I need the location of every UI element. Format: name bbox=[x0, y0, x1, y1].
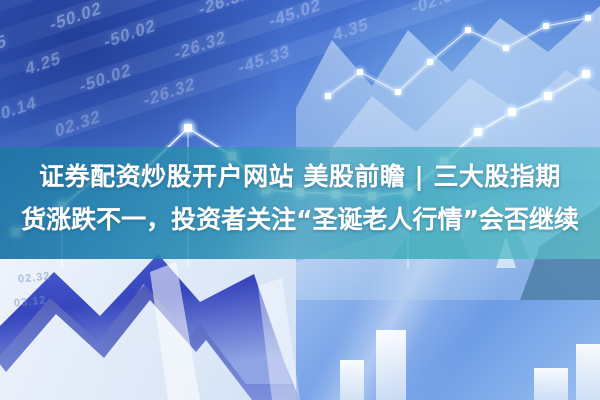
headline-text: 证券配资炒股开户网站 美股前瞻 | 三大股指期 货涨跌不一，投资者关注“圣诞老人… bbox=[0, 155, 600, 241]
bar-4 bbox=[576, 344, 600, 400]
bar-3 bbox=[534, 368, 568, 400]
ticker-value: -26.32 bbox=[174, 27, 227, 65]
bar-1 bbox=[340, 360, 364, 400]
news-banner-image: 21.06-45.02-02.36-11.25+45.02-02.36-11.2… bbox=[0, 0, 600, 400]
ticker-value: 4.35 bbox=[332, 14, 369, 47]
arrow-highlight-sliver-2 bbox=[258, 278, 300, 400]
ticker-value: -45.02 bbox=[268, 0, 321, 33]
arrow-highlight-sliver bbox=[150, 262, 200, 400]
ticker-value: -50.02 bbox=[103, 15, 156, 53]
ticker-value: -45.33 bbox=[238, 41, 291, 79]
ticker-value: -26.32 bbox=[143, 74, 196, 112]
ticker-value: -50.02 bbox=[49, 0, 102, 36]
ticker-value: -50.02 bbox=[79, 60, 132, 98]
bottom-number: 02.32 bbox=[17, 270, 51, 285]
ground-light-panel bbox=[0, 259, 600, 400]
bottom-number: 03.12 bbox=[13, 294, 47, 309]
ticker-value: 1.25 bbox=[42, 0, 79, 3]
bar-chart-group bbox=[340, 330, 600, 400]
ticker-value: 1.25 bbox=[0, 31, 8, 64]
ticker-value: 0.14 bbox=[0, 92, 37, 125]
ticker-value: 02.32 bbox=[55, 106, 102, 142]
ticker-value: -26.32 bbox=[198, 0, 251, 21]
bar-2 bbox=[376, 330, 406, 400]
ground-right-sheen bbox=[296, 259, 600, 400]
headline-line-1: 证券配资炒股开户网站 美股前瞻 | 三大股指期 bbox=[0, 155, 600, 198]
ticker-value: 4.25 bbox=[25, 48, 62, 81]
headline-line-2: 货涨跌不一，投资者关注“圣诞老人行情”会否继续 bbox=[0, 198, 600, 241]
ticker-value: -02.36 bbox=[411, 0, 464, 19]
ground-right-blue-panel bbox=[296, 259, 600, 400]
